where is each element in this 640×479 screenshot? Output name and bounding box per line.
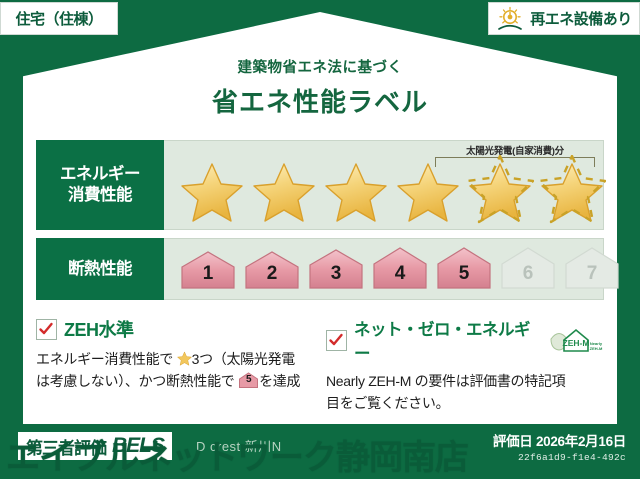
renewable-badge-label: 再エネ設備あり	[530, 8, 632, 29]
zeh-standard-header: ZEH水準	[36, 316, 314, 342]
star-icon-solar	[466, 153, 534, 225]
checkmark-icon	[36, 319, 57, 340]
zeh-body-line2-pre: は考慮しない）、かつ断熱性能で	[36, 373, 235, 389]
net-zero-energy-note: ネット・ゼロ・エネルギー ZEH-M Nearly ZEH-M Nearly Z…	[326, 316, 604, 414]
zeh-body-post: 3つ（太陽光発電	[192, 351, 295, 367]
energy-performance-row: エネルギー 消費性能 太陽光発電(自家消費)分	[36, 140, 604, 230]
house-icon: 3	[306, 247, 366, 293]
watermark-text: エイブルネットワーク静岡南店	[6, 430, 468, 479]
evaluation-date-block: 評価日 2026年2月16日 22f6a1d9-f1e4-492c	[493, 430, 626, 463]
performance-section: エネルギー 消費性能 太陽光発電(自家消費)分	[36, 140, 604, 300]
zeh-standard-body: エネルギー消費性能で 3つ（太陽光発電 は考慮しない）、かつ断熱性能で 5 を達…	[36, 349, 314, 392]
energy-performance-label: エネルギー 消費性能	[36, 140, 164, 230]
nze-body-line2: 目をご覧ください。	[326, 395, 449, 411]
net-zero-energy-body: Nearly ZEH-M の要件は評価書の特記項 目をご覧ください。	[326, 371, 604, 414]
checkmark-icon	[326, 330, 347, 351]
house-icon-inline: 5	[238, 372, 259, 389]
energy-performance-body: 太陽光発電(自家消費)分	[164, 140, 604, 230]
eval-id: 22f6a1d9-f1e4-492c	[493, 452, 626, 463]
house-icon: 5	[434, 247, 494, 293]
notes-section: ZEH水準 エネルギー消費性能で 3つ（太陽光発電 は考慮しない）、かつ断熱性能…	[36, 316, 604, 414]
net-zero-energy-title: ネット・ゼロ・エネルギー	[354, 316, 539, 364]
insulation-level-value: 2	[267, 263, 278, 293]
sun-solar-icon	[496, 6, 526, 32]
energy-label-line2: 消費性能	[68, 186, 132, 204]
building-type-label: 住宅（住棟）	[15, 8, 102, 29]
insulation-level-value: 7	[587, 263, 598, 293]
net-zero-energy-header: ネット・ゼロ・エネルギー ZEH-M Nearly ZEH-M	[326, 316, 604, 364]
building-type-badge: 住宅（住棟）	[0, 2, 118, 35]
house-icon-inactive: 6	[498, 247, 558, 293]
insulation-level-value: 4	[395, 263, 406, 293]
star-icon-solar	[538, 153, 606, 225]
house-icon-inactive: 7	[562, 247, 622, 293]
insulation-performance-label: 断熱性能	[36, 238, 164, 300]
title-subtitle: 建築物省エネ法に基づく	[0, 56, 640, 77]
energy-label-line1: エネルギー	[60, 165, 140, 183]
zeh-inline-house-value: 5	[238, 372, 259, 389]
star-icon	[177, 351, 192, 366]
house-icon: 4	[370, 247, 430, 293]
insulation-level-value: 1	[203, 263, 214, 293]
star-icon	[250, 153, 318, 225]
zeh-standard-note: ZEH水準 エネルギー消費性能で 3つ（太陽光発電 は考慮しない）、かつ断熱性能…	[36, 316, 314, 414]
footer: 第三者評価 BELS D crest 新川N 評価日 2026年2月16日 22…	[0, 424, 640, 477]
zeh-body-line2-post: を達成	[259, 373, 300, 389]
zeh-standard-title: ZEH水準	[64, 316, 134, 342]
star-rating	[178, 153, 593, 225]
insulation-level-value: 6	[523, 263, 534, 293]
insulation-scale: 1 2 3 4 5	[178, 247, 622, 293]
svg-text:ZEH-M: ZEH-M	[563, 338, 590, 348]
eval-date-value: 2026年2月16日	[536, 434, 626, 449]
insulation-performance-row: 断熱性能 1 2 3	[36, 238, 604, 300]
star-icon	[394, 153, 462, 225]
label-title: 建築物省エネ法に基づく 省エネ性能ラベル	[0, 56, 640, 119]
zeh-m-house-logo: ZEH-M Nearly ZEH-M	[548, 325, 604, 355]
renewable-equipment-badge: 再エネ設備あり	[488, 2, 640, 35]
insulation-level-value: 3	[331, 263, 342, 293]
insulation-performance-body: 1 2 3 4 5	[164, 238, 604, 300]
house-icon: 1	[178, 247, 238, 293]
house-icon: 2	[242, 247, 302, 293]
title-main: 省エネ性能ラベル	[0, 82, 640, 119]
eval-date-label: 評価日	[493, 434, 533, 449]
energy-label-root: 住宅（住棟） 再エネ設備あり 建築物省エネ法に基づく 省エネ性能ラベル エネルギ…	[0, 0, 640, 477]
insulation-level-value: 5	[459, 263, 470, 293]
star-icon	[178, 153, 246, 225]
star-icon	[322, 153, 390, 225]
nze-body-line1: Nearly ZEH-M の要件は評価書の特記項	[326, 373, 565, 389]
svg-text:ZEH-M: ZEH-M	[590, 346, 603, 351]
zeh-body-pre: エネルギー消費性能で	[36, 351, 173, 367]
